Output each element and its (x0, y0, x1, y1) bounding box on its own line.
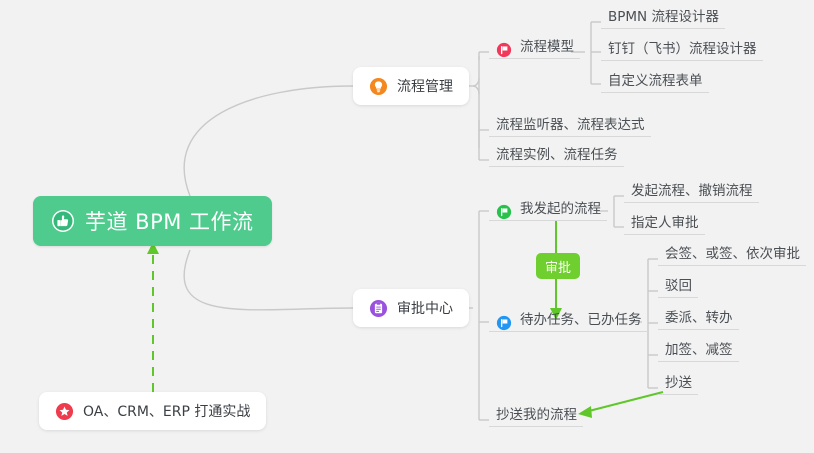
node-label: 流程监听器、流程表达式 (496, 114, 645, 136)
node-process-listener-expression[interactable]: 流程监听器、流程表达式 (489, 111, 651, 137)
node-label: 抄送我的流程 (496, 404, 577, 426)
node-start-cancel-process[interactable]: 发起流程、撤销流程 (624, 177, 759, 203)
star-red-icon (55, 402, 74, 421)
flag-red-icon (496, 42, 512, 58)
clipboard-purple-icon (369, 299, 388, 318)
node-label: 抄送 (665, 372, 692, 394)
branch-label: 流程管理 (397, 76, 453, 96)
node-label: 待办任务、已办任务 (520, 309, 642, 331)
wire-root-to-process-management (184, 86, 353, 196)
node-label: 指定人审批 (631, 212, 699, 234)
wire-process-management-trunk-top (473, 78, 479, 86)
thumbs-up-icon (51, 209, 75, 233)
root-node[interactable]: 芋道 BPM 工作流 (33, 196, 272, 246)
node-process-instance-task[interactable]: 流程实例、流程任务 (489, 141, 624, 167)
node-label: BPMN 流程设计器 (608, 6, 719, 28)
node-process-model[interactable]: 流程模型 (489, 33, 580, 59)
footer-integration-note[interactable]: OA、CRM、ERP 打通实战 (39, 392, 266, 430)
node-label: 加签、减签 (665, 339, 733, 361)
node-label: 流程实例、流程任务 (496, 144, 618, 166)
flag-blue-icon (496, 315, 512, 331)
node-todo-done-tasks[interactable]: 待办任务、已办任务 (489, 306, 648, 332)
node-my-initiated-process[interactable]: 我发起的流程 (489, 195, 607, 221)
node-designated-approver[interactable]: 指定人审批 (624, 209, 705, 235)
node-label: 流程模型 (520, 36, 574, 58)
node-countersign-orsign-sequential[interactable]: 会签、或签、依次审批 (658, 240, 806, 266)
flag-green-icon (496, 204, 512, 220)
node-reject[interactable]: 驳回 (658, 272, 698, 298)
node-dingtalk-feishu-designer[interactable]: 钉钉（飞书）流程设计器 (601, 35, 763, 61)
footer-label: OA、CRM、ERP 打通实战 (83, 401, 250, 421)
node-label: 会签、或签、依次审批 (665, 243, 800, 265)
node-label: 钉钉（飞书）流程设计器 (608, 38, 757, 60)
branch-process-management[interactable]: 流程管理 (353, 67, 469, 105)
node-bpmn-designer[interactable]: BPMN 流程设计器 (601, 3, 725, 29)
node-custom-process-form[interactable]: 自定义流程表单 (601, 67, 709, 93)
node-cc[interactable]: 抄送 (658, 369, 698, 395)
node-add-remove-sign[interactable]: 加签、减签 (658, 336, 739, 362)
branch-approval-center[interactable]: 审批中心 (353, 289, 469, 327)
node-label: 委派、转办 (665, 307, 733, 329)
node-label: 驳回 (665, 275, 692, 297)
node-label: 自定义流程表单 (608, 70, 703, 92)
lightbulb-icon (369, 77, 388, 96)
badge-label: 审批 (545, 257, 571, 276)
node-cc-to-me-process[interactable]: 抄送我的流程 (489, 401, 583, 427)
root-label: 芋道 BPM 工作流 (85, 206, 254, 236)
wire-root-to-approval-center (184, 250, 353, 310)
mindmap-canvas: 芋道 BPM 工作流 流程管理 流程模型 BPMN 流程设计器 钉钉（飞书 (0, 0, 814, 453)
arrow-cc-to-ccme (585, 392, 663, 412)
branch-label: 审批中心 (397, 298, 453, 318)
node-label: 发起流程、撤销流程 (631, 180, 753, 202)
wire-process-management-trunk-bottom (473, 86, 479, 94)
node-label: 我发起的流程 (520, 198, 601, 220)
approval-flow-badge[interactable]: 审批 (536, 253, 580, 279)
node-delegate-transfer[interactable]: 委派、转办 (658, 304, 739, 330)
